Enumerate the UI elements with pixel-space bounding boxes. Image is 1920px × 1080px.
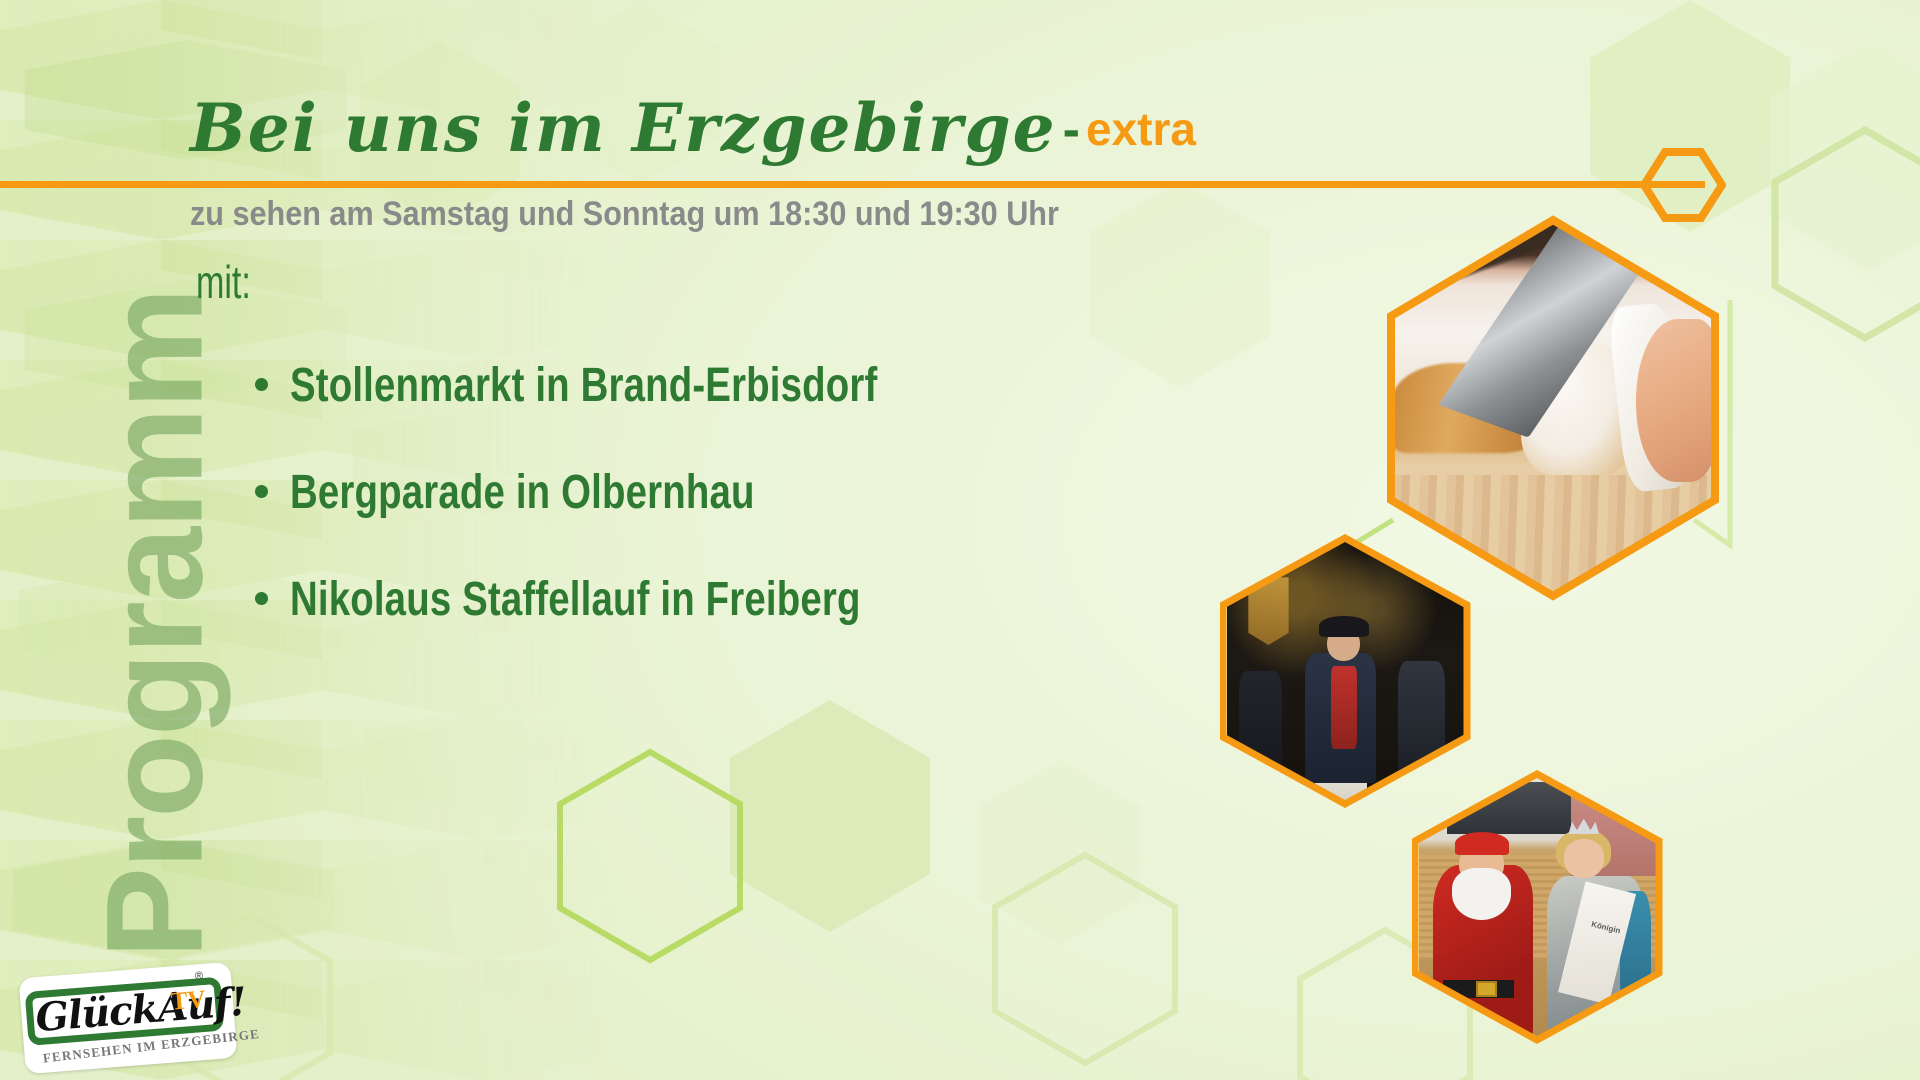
orange-divider-rule <box>0 181 1705 188</box>
broadcast-times-subtitle: zu sehen am Samstag und Sonntag um 18:30… <box>190 195 1059 234</box>
miner-red-vest <box>1331 666 1357 749</box>
list-item: Stollenmarkt in Brand-Erbisdorf <box>255 358 1024 413</box>
santa-belt-buckle <box>1476 981 1497 997</box>
hexagon-decor-filled <box>1770 40 1920 272</box>
list-item-label: Bergparade in Olbernhau <box>290 465 755 520</box>
hexagon-decor-filled <box>980 760 1140 944</box>
hexagon-rule-terminator-icon <box>1640 148 1726 222</box>
page-title: Bei uns im Erzgebirge-extra <box>190 95 1196 161</box>
page-title-script: Bei uns im Erzgebirge <box>190 89 1057 167</box>
bullet-dot-icon <box>255 592 268 605</box>
slide-canvas: Programm Bei uns im Erzgebirge-extra zu … <box>0 0 1920 1080</box>
list-item: Nikolaus Staffellauf in Freiberg <box>255 572 1024 627</box>
list-item-label: Nikolaus Staffellauf in Freiberg <box>290 572 861 627</box>
topic-list: Stollenmarkt in Brand-Erbisdorf Bergpara… <box>255 358 1024 679</box>
intro-label: mit: <box>196 255 251 309</box>
list-item-label: Stollenmarkt in Brand-Erbisdorf <box>290 358 877 413</box>
hand <box>1636 319 1713 483</box>
queen-face <box>1564 839 1604 878</box>
hexagon-decor-filled <box>1090 180 1270 388</box>
santa-hat <box>1455 832 1510 855</box>
list-item: Bergparade in Olbernhau <box>255 465 1024 520</box>
glueckauf-tv-logo: GlückAuf! TV ® FERNSEHEN IM ERZGEBIRGE <box>19 962 238 1074</box>
bullet-dot-icon <box>255 485 268 498</box>
logo-registered-mark: ® <box>194 970 203 983</box>
hexagon-decor-filled <box>730 700 930 932</box>
bullet-dot-icon <box>255 378 268 391</box>
page-title-dash: - <box>1057 101 1086 159</box>
santa-beard <box>1452 868 1511 920</box>
hexagon-decor-outline <box>560 752 740 960</box>
page-title-extra: extra <box>1086 103 1196 155</box>
miner-hat <box>1319 616 1369 637</box>
logo-tv-suffix: TV <box>170 986 207 1017</box>
